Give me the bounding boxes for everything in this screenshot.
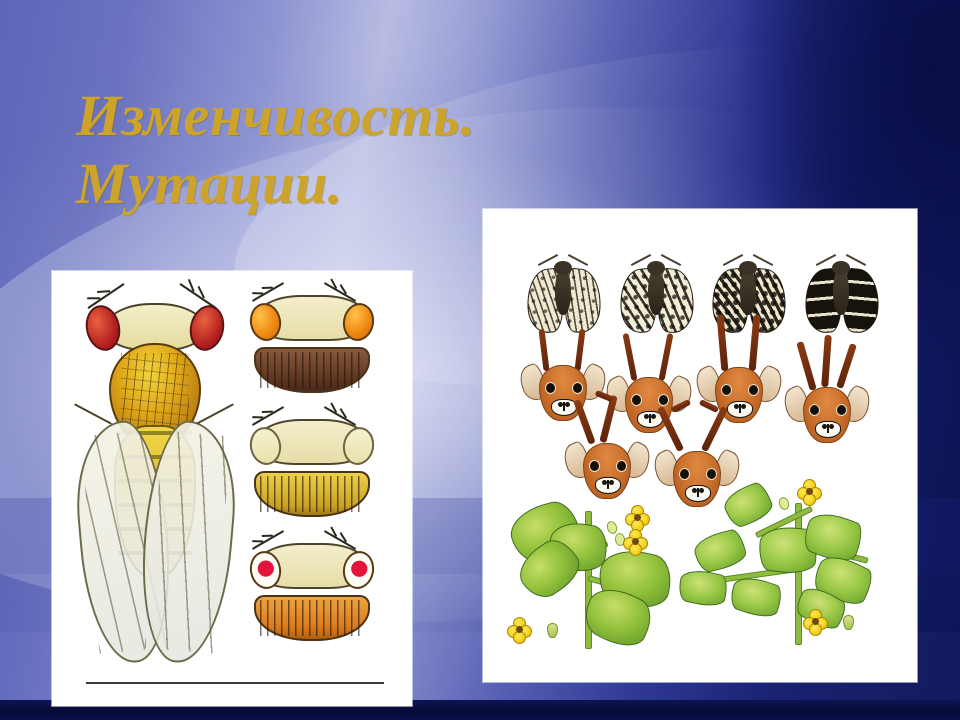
plant-leaf bbox=[691, 527, 748, 574]
deer-eye-left bbox=[809, 404, 820, 416]
panel-divider-rule bbox=[86, 682, 384, 684]
fly-head bbox=[254, 295, 370, 341]
fly-head-eyeless-figure bbox=[248, 419, 376, 517]
plant-flower bbox=[627, 507, 647, 527]
moth-figure-spotted bbox=[620, 259, 692, 335]
deer-eye-right bbox=[658, 394, 669, 406]
plant-dissected-leaf-variant bbox=[679, 475, 889, 659]
deer-antler-right bbox=[599, 395, 617, 443]
deer-figure-4 bbox=[789, 357, 863, 449]
drosophila-panel-inner bbox=[52, 271, 412, 706]
plant-leaf bbox=[720, 480, 776, 531]
deer-eye-right bbox=[836, 404, 847, 416]
deer-antler-center bbox=[821, 335, 832, 387]
fly-eye-right bbox=[340, 549, 377, 592]
fly-eye-left bbox=[247, 549, 284, 592]
fly-eye-right bbox=[340, 425, 377, 468]
deer-eye-left bbox=[631, 394, 642, 406]
plant-broad-leaved-variant bbox=[503, 487, 693, 659]
plant-flower bbox=[625, 531, 645, 551]
moth-figure-melanistic bbox=[805, 259, 877, 335]
deer-eye-left bbox=[545, 382, 556, 394]
flower-center bbox=[516, 626, 523, 633]
flower-center bbox=[806, 488, 813, 495]
fly-head-orange-eyes-figure bbox=[248, 295, 376, 393]
deer-antler-left bbox=[622, 333, 637, 381]
moth-melanism-row bbox=[527, 253, 877, 335]
deer-eye-right bbox=[616, 460, 627, 472]
variability-panel-inner bbox=[483, 209, 917, 682]
moth-figure-light bbox=[527, 259, 599, 335]
flower-petal bbox=[513, 631, 526, 644]
fly-leg-2 bbox=[196, 403, 234, 424]
deer-figure-3 bbox=[701, 337, 775, 429]
presentation-slide: Изменчивость. Мутации. bbox=[0, 0, 960, 720]
deer-antler-right bbox=[658, 333, 673, 381]
deer-antler-left bbox=[796, 341, 817, 391]
fly-head bbox=[254, 543, 370, 589]
deer-eye-left bbox=[721, 384, 732, 396]
plant-flower bbox=[799, 481, 819, 501]
deer-muzzle bbox=[727, 401, 753, 418]
deer-nostrils bbox=[822, 424, 827, 429]
deer-eye-right bbox=[748, 384, 759, 396]
drosophila-illustration bbox=[52, 281, 412, 681]
slide-title: Изменчивость. Мутации. bbox=[76, 82, 696, 218]
deer-antler-right bbox=[574, 329, 585, 371]
plant-seed-detail bbox=[843, 615, 854, 630]
flower-center bbox=[634, 514, 641, 521]
moth-head bbox=[554, 261, 572, 275]
fly-thorax bbox=[254, 347, 370, 393]
flower-petal bbox=[629, 543, 642, 556]
fly-head bbox=[254, 419, 370, 465]
deer-nostrils bbox=[734, 404, 739, 409]
deer-eye-right bbox=[572, 382, 583, 394]
plant-leaf bbox=[676, 566, 730, 609]
fly-eye-right bbox=[340, 301, 377, 344]
fly-whole-figure bbox=[78, 293, 228, 665]
plant-seed-detail bbox=[547, 623, 558, 638]
deer-antler-right bbox=[836, 343, 857, 389]
fly-thorax bbox=[254, 471, 370, 517]
deer-nostrils bbox=[602, 480, 607, 485]
title-line-2: Мутации. bbox=[76, 150, 696, 218]
plant-bud bbox=[777, 496, 791, 511]
title-line-1: Изменчивость. bbox=[76, 82, 696, 150]
deer-antler-left bbox=[538, 329, 549, 371]
drosophila-panel bbox=[52, 271, 412, 706]
flower-center bbox=[632, 538, 639, 545]
moth-head bbox=[647, 261, 665, 275]
deer-eye-left bbox=[589, 460, 600, 472]
deer-nostrils bbox=[644, 414, 649, 419]
flower-petal bbox=[809, 623, 822, 636]
fly-leg-1 bbox=[74, 403, 112, 424]
deer-face bbox=[803, 387, 851, 443]
fly-thorax bbox=[254, 595, 370, 641]
variability-panel bbox=[483, 209, 917, 682]
plant-stem-main bbox=[795, 503, 802, 645]
fly-eye-left bbox=[247, 425, 284, 468]
plant-flower-detail bbox=[509, 619, 529, 639]
flower-center bbox=[812, 618, 819, 625]
fly-head-red-eyes-figure bbox=[248, 543, 376, 641]
deer-muzzle bbox=[815, 421, 841, 438]
fly-eye-left bbox=[247, 301, 284, 344]
deer-nostrils bbox=[558, 402, 563, 407]
plant-flower-detail bbox=[805, 611, 825, 631]
flower-petal bbox=[803, 493, 816, 506]
moth-head bbox=[832, 261, 850, 275]
